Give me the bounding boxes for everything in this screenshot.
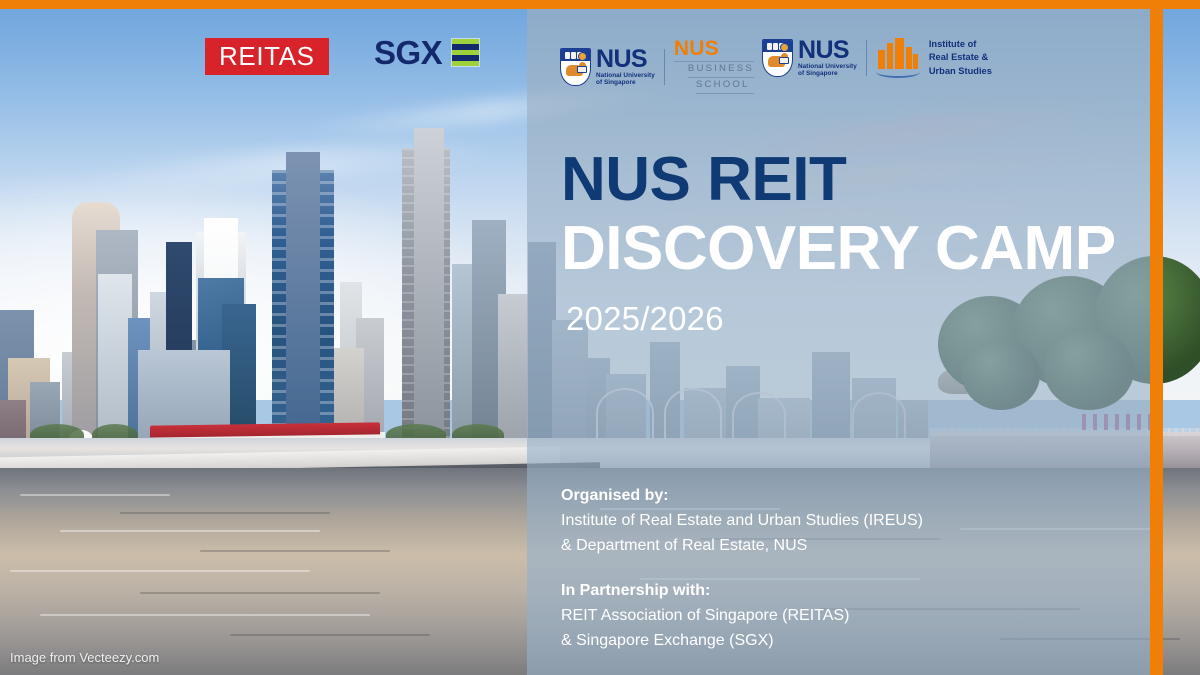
logo-nus-ireus[interactable]: NUS National University of Singapore Ins… (762, 38, 992, 78)
water-ripple (200, 550, 390, 552)
reitas-wordmark: REITAS (205, 38, 329, 75)
organised-by-line-2: & Department of Real Estate, NUS (561, 534, 923, 559)
water-ripple (60, 530, 320, 532)
biz-rule (688, 77, 754, 78)
headline-line-2: DISCOVERY CAMP (561, 217, 1116, 280)
biz-line-business: BUSINESS (674, 64, 754, 75)
headline-block: NUS REIT DISCOVERY CAMP 2025/2026 (561, 148, 1116, 338)
credits-spacer (561, 558, 923, 579)
logo-reitas[interactable]: REITAS (205, 38, 329, 75)
biz-line-school: SCHOOL (674, 80, 754, 91)
water-ripple (20, 494, 170, 496)
logo-divider (866, 40, 867, 76)
logo-sgx[interactable]: SGX (374, 36, 480, 69)
logo-divider (664, 49, 665, 85)
organised-by-heading: Organised by: (561, 484, 923, 509)
building (414, 128, 444, 470)
water-ripple (140, 592, 380, 594)
business-school-lockup: NUS BUSINESS SCHOOL (674, 38, 754, 96)
biz-nus-text: NUS (674, 38, 754, 59)
nus-wordmark-subtitle: National University of Singapore (798, 63, 857, 78)
water-ripple (230, 634, 430, 636)
headline-year: 2025/2026 (561, 300, 1116, 338)
poster-canvas: REITAS SGX NUS (0, 0, 1200, 675)
nus-crest-icon (762, 39, 793, 77)
headline-line-1: NUS REIT (561, 148, 1116, 211)
nus-wordmark: NUS (596, 48, 655, 71)
logo-nus-business-school[interactable]: NUS National University of Singapore NUS… (560, 38, 754, 96)
water-ripple (10, 570, 310, 572)
ireus-lockup-text: Institute of Real Estate & Urban Studies (929, 38, 992, 78)
partnership-line-1: REIT Association of Singapore (REITAS) (561, 604, 923, 629)
nus-crest-icon (560, 48, 591, 86)
image-credit-text: Image from Vecteezy.com (10, 650, 159, 665)
water-ripple (40, 614, 370, 616)
biz-rule (674, 61, 754, 62)
orange-top-border (0, 0, 1200, 9)
sgx-stripes-icon (451, 38, 480, 67)
orange-vertical-bar (1150, 0, 1163, 675)
water-ripple (120, 512, 330, 514)
partnership-heading: In Partnership with: (561, 579, 923, 604)
organised-by-line-1: Institute of Real Estate and Urban Studi… (561, 509, 923, 534)
partnership-line-2: & Singapore Exchange (SGX) (561, 629, 923, 654)
nus-wordmark-subtitle: National University of Singapore (596, 72, 655, 87)
logo-row: REITAS SGX NUS (0, 22, 1150, 92)
biz-rule (696, 93, 754, 94)
credits-block: Organised by: Institute of Real Estate a… (561, 484, 923, 654)
sgx-wordmark: SGX (374, 36, 442, 69)
nus-wordmark: NUS (798, 39, 857, 62)
ireus-buildings-icon (876, 38, 920, 78)
